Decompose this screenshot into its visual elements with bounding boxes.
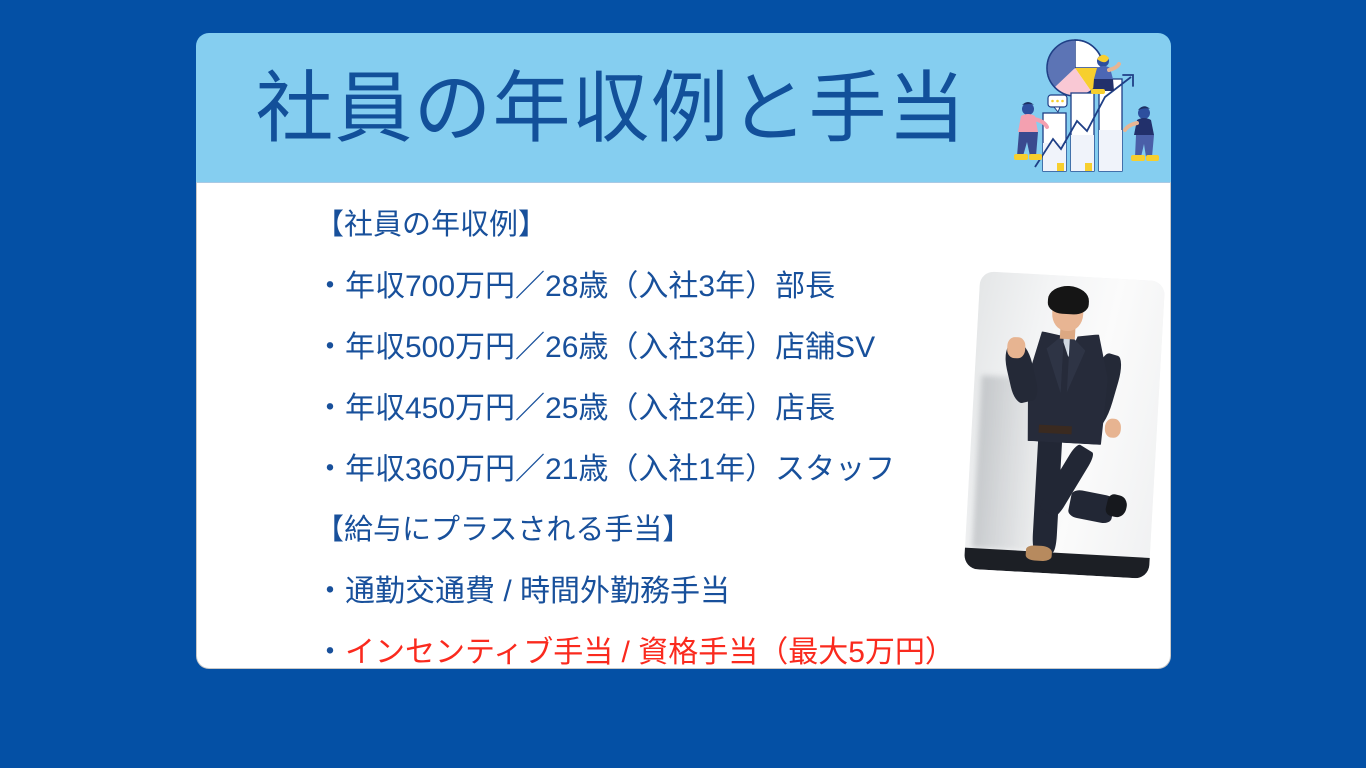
content-line-list: 【社員の年収例】 ・ 年収700万円／28歳（入社3年）部長 ・ 年収500万円… bbox=[315, 195, 1015, 669]
list-item: ・ 年収360万円／21歳（入社1年）スタッフ bbox=[315, 439, 1015, 500]
page-title: 社員の年収例と手当 bbox=[196, 69, 1026, 147]
employee-celebration-photo bbox=[964, 271, 1165, 579]
list-item-label: 年収360万円／21歳（入社1年）スタッフ bbox=[345, 455, 895, 485]
list-bullet: ・ bbox=[315, 394, 345, 424]
list-item-label: 年収700万円／28歳（入社3年）部長 bbox=[345, 272, 835, 302]
list-bullet: ・ bbox=[315, 577, 345, 607]
list-bullet: ・ bbox=[315, 333, 345, 363]
list-item-label: 通勤交通費 / 時間外勤務手当 bbox=[345, 577, 730, 607]
slide-content-card: 【社員の年収例】 ・ 年収700万円／28歳（入社3年）部長 ・ 年収500万円… bbox=[196, 182, 1171, 669]
figure-fist bbox=[1007, 337, 1026, 359]
list-item-label: 年収450万円／25歳（入社2年）店長 bbox=[345, 394, 835, 424]
list-item: 【社員の年収例】 bbox=[315, 195, 1015, 256]
list-item-label: 年収500万円／26歳（入社3年）店舗SV bbox=[345, 333, 875, 363]
list-bullet: ・ bbox=[315, 638, 345, 668]
slide-header-band: 社員の年収例と手当 bbox=[196, 33, 1171, 182]
list-item: ・ 年収700万円／28歳（入社3年）部長 bbox=[315, 256, 1015, 317]
business-growth-chart-illustration bbox=[1005, 35, 1165, 181]
list-item-label: 【給与にプラスされる手当】 bbox=[315, 516, 691, 545]
list-item-label: 【社員の年収例】 bbox=[315, 211, 547, 240]
list-bullet: ・ bbox=[315, 455, 345, 485]
list-item: ・ 年収450万円／25歳（入社2年）店長 bbox=[315, 378, 1015, 439]
list-item: ・ 年収500万円／26歳（入社3年）店舗SV bbox=[315, 317, 1015, 378]
list-bullet: ・ bbox=[315, 272, 345, 302]
speech-bubble-icon bbox=[1048, 95, 1067, 112]
person-right-icon bbox=[1125, 106, 1159, 161]
list-item: ・ 通勤交通費 / 時間外勤務手当 bbox=[315, 561, 1015, 622]
person-left-icon bbox=[1014, 102, 1047, 160]
list-item: 【給与にプラスされる手当】 bbox=[315, 500, 1015, 561]
figure-shoe-standing bbox=[1025, 545, 1052, 561]
list-item: ・ インセンティブ手当 / 資格手当（最大5万円） bbox=[315, 622, 1015, 669]
slide-canvas: 社員の年収例と手当 bbox=[0, 0, 1366, 768]
list-item-label: インセンティブ手当 / 資格手当（最大5万円） bbox=[345, 638, 955, 668]
